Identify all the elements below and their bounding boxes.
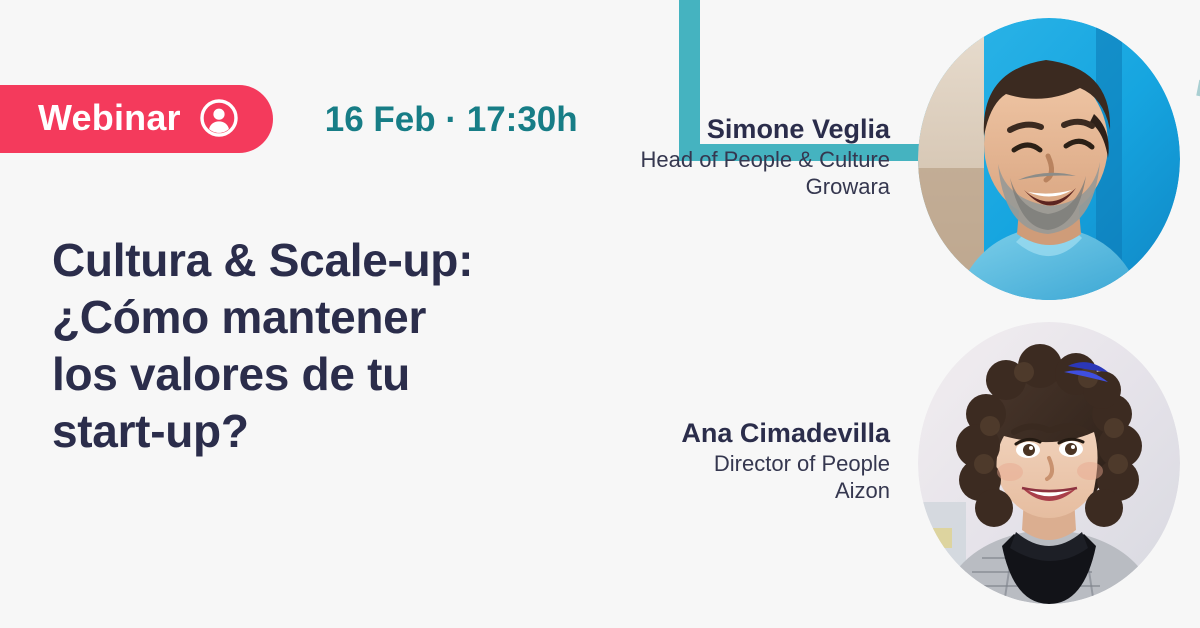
speaker-company: Aizon [681, 477, 890, 505]
webinar-badge-label: Webinar [38, 100, 181, 136]
person-circle-icon [199, 98, 239, 138]
banner-header-row: Webinar 16 Feb · 17:30h [0, 85, 578, 153]
speaker-info: Simone Veglia Head of People & Culture G… [641, 113, 919, 204]
speaker-company: Growara [641, 173, 891, 201]
webinar-badge: Webinar [0, 85, 273, 153]
speaker-role: Director of People [681, 450, 890, 478]
page-title: Cultura & Scale-up: ¿Cómo mantener los v… [52, 232, 572, 460]
speaker-role: Head of People & Culture [641, 146, 891, 174]
speaker-name: Ana Cimadevilla [681, 417, 890, 449]
webinar-date-time: 16 Feb · 17:30h [325, 102, 578, 137]
speaker-info: Ana Cimadevilla Director of People Aizon [681, 417, 918, 508]
headline-line-4: start-up? [52, 403, 572, 460]
headline-line-1: Cultura & Scale-up: [52, 232, 572, 289]
headline-line-3: los valores de tu [52, 346, 572, 403]
speaker-card-simone-veglia: Simone Veglia Head of People & Culture G… [560, 18, 1180, 300]
speaker-name: Simone Veglia [641, 113, 891, 145]
avatar [918, 322, 1180, 604]
speaker-card-ana-cimadevilla: Ana Cimadevilla Director of People Aizon [560, 322, 1180, 604]
avatar [918, 18, 1180, 300]
headline-line-2: ¿Cómo mantener [52, 289, 572, 346]
webinar-promo-banner: Webinar 16 Feb · 17:30h Cultura & Scale-… [0, 0, 1200, 628]
